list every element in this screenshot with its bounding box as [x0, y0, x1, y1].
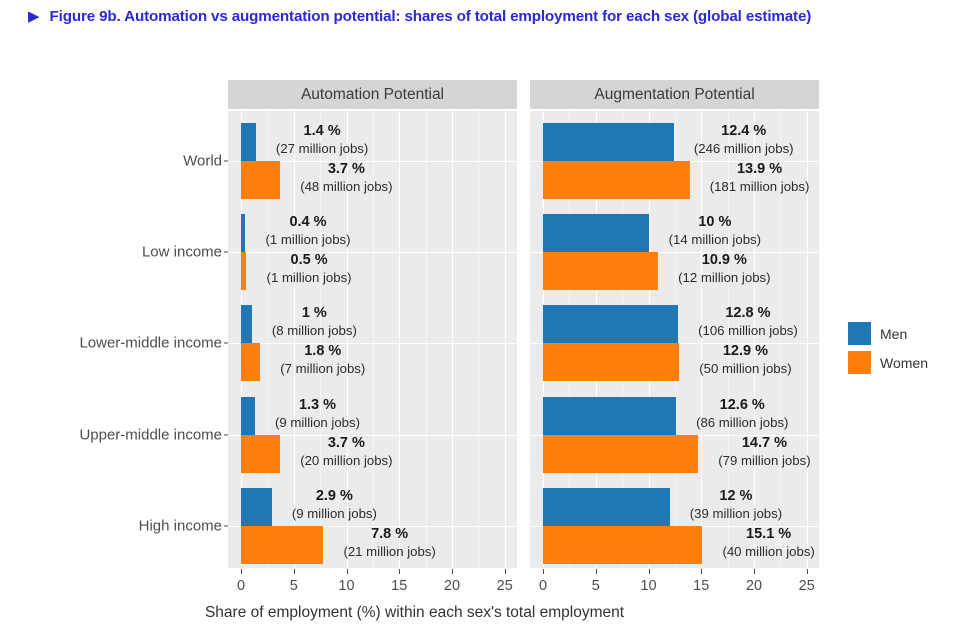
bar-jobs-label: (8 million jobs)	[272, 322, 357, 339]
plot-area: 12.4 %(246 million jobs)10 %(14 million …	[530, 111, 819, 568]
bar-jobs-label: (1 million jobs)	[266, 231, 351, 248]
bar-percent-label: 2.9 %	[292, 487, 377, 505]
bar-percent-label: 12.9 %	[699, 342, 791, 360]
bar-women-upper-middle-income[interactable]	[543, 435, 698, 473]
bar-women-lower-middle-income[interactable]	[241, 343, 260, 381]
bar-jobs-label: (86 million jobs)	[696, 414, 788, 431]
x-axis-tick-label: 10	[640, 578, 656, 594]
panel-automation-potential: Automation Potential1.4 %(27 million job…	[228, 80, 517, 568]
x-axis-tick	[543, 569, 544, 574]
x-axis-tick-label: 0	[237, 578, 245, 594]
bar-percent-label: 7.8 %	[343, 525, 435, 543]
gridline-minor	[426, 111, 427, 568]
bar-percent-label: 15.1 %	[722, 525, 814, 543]
legend-label-women: Women	[880, 355, 928, 371]
bar-jobs-label: (9 million jobs)	[292, 505, 377, 522]
gridline-minor	[478, 111, 479, 568]
bar-percent-label: 1.3 %	[275, 396, 360, 414]
y-axis-label-lower-middle-income: Lower-middle income	[79, 335, 222, 352]
bar-value-label: 10.9 %(12 million jobs)	[678, 251, 770, 286]
bar-value-label: 0.5 %(1 million jobs)	[267, 251, 352, 286]
bar-jobs-label: (20 million jobs)	[300, 452, 392, 469]
bar-value-label: 12.8 %(106 million jobs)	[698, 304, 798, 339]
bar-percent-label: 10 %	[669, 213, 761, 231]
x-axis-tick	[347, 569, 348, 574]
x-axis-title-text: Share of employment (%) within each sex'…	[205, 604, 624, 622]
bar-percent-label: 12 %	[690, 487, 782, 505]
bar-percent-label: 12.6 %	[696, 396, 788, 414]
bar-women-upper-middle-income[interactable]	[241, 435, 280, 473]
gridline-major	[505, 111, 506, 568]
gridline-major	[399, 111, 400, 568]
legend-swatch-women	[848, 351, 871, 374]
bar-percent-label: 13.9 %	[710, 160, 810, 178]
bar-jobs-label: (40 million jobs)	[722, 543, 814, 560]
bar-women-high-income[interactable]	[543, 526, 702, 564]
x-axis-tick-label: 10	[338, 578, 354, 594]
bar-jobs-label: (1 million jobs)	[267, 269, 352, 286]
bar-value-label: 12.4 %(246 million jobs)	[694, 122, 794, 157]
bar-women-low-income[interactable]	[543, 252, 658, 290]
bar-value-label: 13.9 %(181 million jobs)	[710, 160, 810, 195]
panel-header-label: Augmentation Potential	[594, 86, 754, 104]
bar-jobs-label: (79 million jobs)	[718, 452, 810, 469]
bar-women-world[interactable]	[543, 161, 690, 199]
bar-jobs-label: (12 million jobs)	[678, 269, 770, 286]
bar-percent-label: 0.4 %	[266, 213, 351, 231]
bar-value-label: 14.7 %(79 million jobs)	[718, 434, 810, 469]
bar-percent-label: 1.4 %	[276, 122, 368, 140]
x-axis-tick-label: 0	[539, 578, 547, 594]
gridline-major	[452, 111, 453, 568]
bar-men-low-income[interactable]	[543, 214, 649, 252]
bar-jobs-label: (48 million jobs)	[300, 178, 392, 195]
bar-value-label: 1.8 %(7 million jobs)	[280, 342, 365, 377]
bar-men-high-income[interactable]	[241, 488, 272, 526]
bar-jobs-label: (181 million jobs)	[710, 178, 810, 195]
x-axis-tick	[241, 569, 242, 574]
bar-women-low-income[interactable]	[241, 252, 246, 290]
x-axis-tick	[452, 569, 453, 574]
bar-percent-label: 1 %	[272, 304, 357, 322]
x-axis-tick	[505, 569, 506, 574]
legend: Men Women	[848, 322, 928, 374]
x-axis-tick-label: 5	[290, 578, 298, 594]
bar-value-label: 0.4 %(1 million jobs)	[266, 213, 351, 248]
legend-item-women[interactable]: Women	[848, 351, 928, 374]
bar-men-low-income[interactable]	[241, 214, 245, 252]
bar-women-high-income[interactable]	[241, 526, 323, 564]
x-axis-tick-label: 25	[799, 578, 815, 594]
bar-value-label: 12 %(39 million jobs)	[690, 487, 782, 522]
legend-swatch-men	[848, 322, 871, 345]
bar-men-world[interactable]	[543, 123, 674, 161]
gridline-category	[228, 343, 517, 344]
bar-jobs-label: (21 million jobs)	[343, 543, 435, 560]
bar-value-label: 1 %(8 million jobs)	[272, 304, 357, 339]
bar-jobs-label: (39 million jobs)	[690, 505, 782, 522]
y-axis-label-low-income: Low income	[142, 244, 222, 261]
bar-women-world[interactable]	[241, 161, 280, 199]
x-axis-tick-label: 20	[746, 578, 762, 594]
bar-jobs-label: (9 million jobs)	[275, 414, 360, 431]
bar-men-high-income[interactable]	[543, 488, 670, 526]
bar-percent-label: 0.5 %	[267, 251, 352, 269]
x-axis-tick	[399, 569, 400, 574]
x-axis-tick-label: 15	[391, 578, 407, 594]
bar-women-lower-middle-income[interactable]	[543, 343, 679, 381]
bar-men-world[interactable]	[241, 123, 256, 161]
bar-percent-label: 14.7 %	[718, 434, 810, 452]
plot-area: 1.4 %(27 million jobs)0.4 %(1 million jo…	[228, 111, 517, 568]
panel-header: Automation Potential	[228, 80, 517, 109]
x-axis-title: Share of employment (%) within each sex'…	[0, 604, 973, 622]
bar-jobs-label: (27 million jobs)	[276, 140, 368, 157]
legend-item-men[interactable]: Men	[848, 322, 928, 345]
legend-label-men: Men	[880, 326, 907, 342]
bar-jobs-label: (50 million jobs)	[699, 360, 791, 377]
x-axis-tick	[649, 569, 650, 574]
y-axis-label-upper-middle-income: Upper-middle income	[79, 426, 222, 443]
bar-value-label: 12.6 %(86 million jobs)	[696, 396, 788, 431]
x-axis-tick-label: 5	[592, 578, 600, 594]
bar-jobs-label: (14 million jobs)	[669, 231, 761, 248]
bar-percent-label: 12.8 %	[698, 304, 798, 322]
bar-percent-label: 12.4 %	[694, 122, 794, 140]
chart-figure: WorldLow incomeLower-middle incomeUpper-…	[0, 0, 973, 641]
bar-value-label: 1.4 %(27 million jobs)	[276, 122, 368, 157]
x-axis-tick-label: 25	[497, 578, 513, 594]
y-axis-label-high-income: High income	[139, 517, 222, 534]
bar-jobs-label: (246 million jobs)	[694, 140, 794, 157]
bar-percent-label: 10.9 %	[678, 251, 770, 269]
bar-value-label: 10 %(14 million jobs)	[669, 213, 761, 248]
x-axis-tick	[754, 569, 755, 574]
x-axis-tick	[596, 569, 597, 574]
x-axis-tick-label: 20	[444, 578, 460, 594]
y-axis-label-world: World	[183, 153, 222, 170]
panel-header-label: Automation Potential	[301, 86, 444, 104]
bar-men-lower-middle-income[interactable]	[543, 305, 678, 343]
panel-augmentation-potential: Augmentation Potential12.4 %(246 million…	[530, 80, 819, 568]
x-axis-tick-label: 15	[693, 578, 709, 594]
bar-men-upper-middle-income[interactable]	[241, 397, 255, 435]
bar-value-label: 1.3 %(9 million jobs)	[275, 396, 360, 431]
x-axis-tick	[807, 569, 808, 574]
bar-men-lower-middle-income[interactable]	[241, 305, 252, 343]
panel-header: Augmentation Potential	[530, 80, 819, 109]
bar-jobs-label: (7 million jobs)	[280, 360, 365, 377]
x-axis-tick	[294, 569, 295, 574]
y-axis: WorldLow incomeLower-middle incomeUpper-…	[0, 111, 222, 568]
bar-value-label: 12.9 %(50 million jobs)	[699, 342, 791, 377]
bar-percent-label: 1.8 %	[280, 342, 365, 360]
bar-percent-label: 3.7 %	[300, 434, 392, 452]
bar-value-label: 15.1 %(40 million jobs)	[722, 525, 814, 560]
bar-percent-label: 3.7 %	[300, 160, 392, 178]
bar-men-upper-middle-income[interactable]	[543, 397, 676, 435]
bar-jobs-label: (106 million jobs)	[698, 322, 798, 339]
x-axis-tick	[701, 569, 702, 574]
bar-value-label: 3.7 %(48 million jobs)	[300, 160, 392, 195]
bar-value-label: 2.9 %(9 million jobs)	[292, 487, 377, 522]
bar-value-label: 7.8 %(21 million jobs)	[343, 525, 435, 560]
bar-value-label: 3.7 %(20 million jobs)	[300, 434, 392, 469]
